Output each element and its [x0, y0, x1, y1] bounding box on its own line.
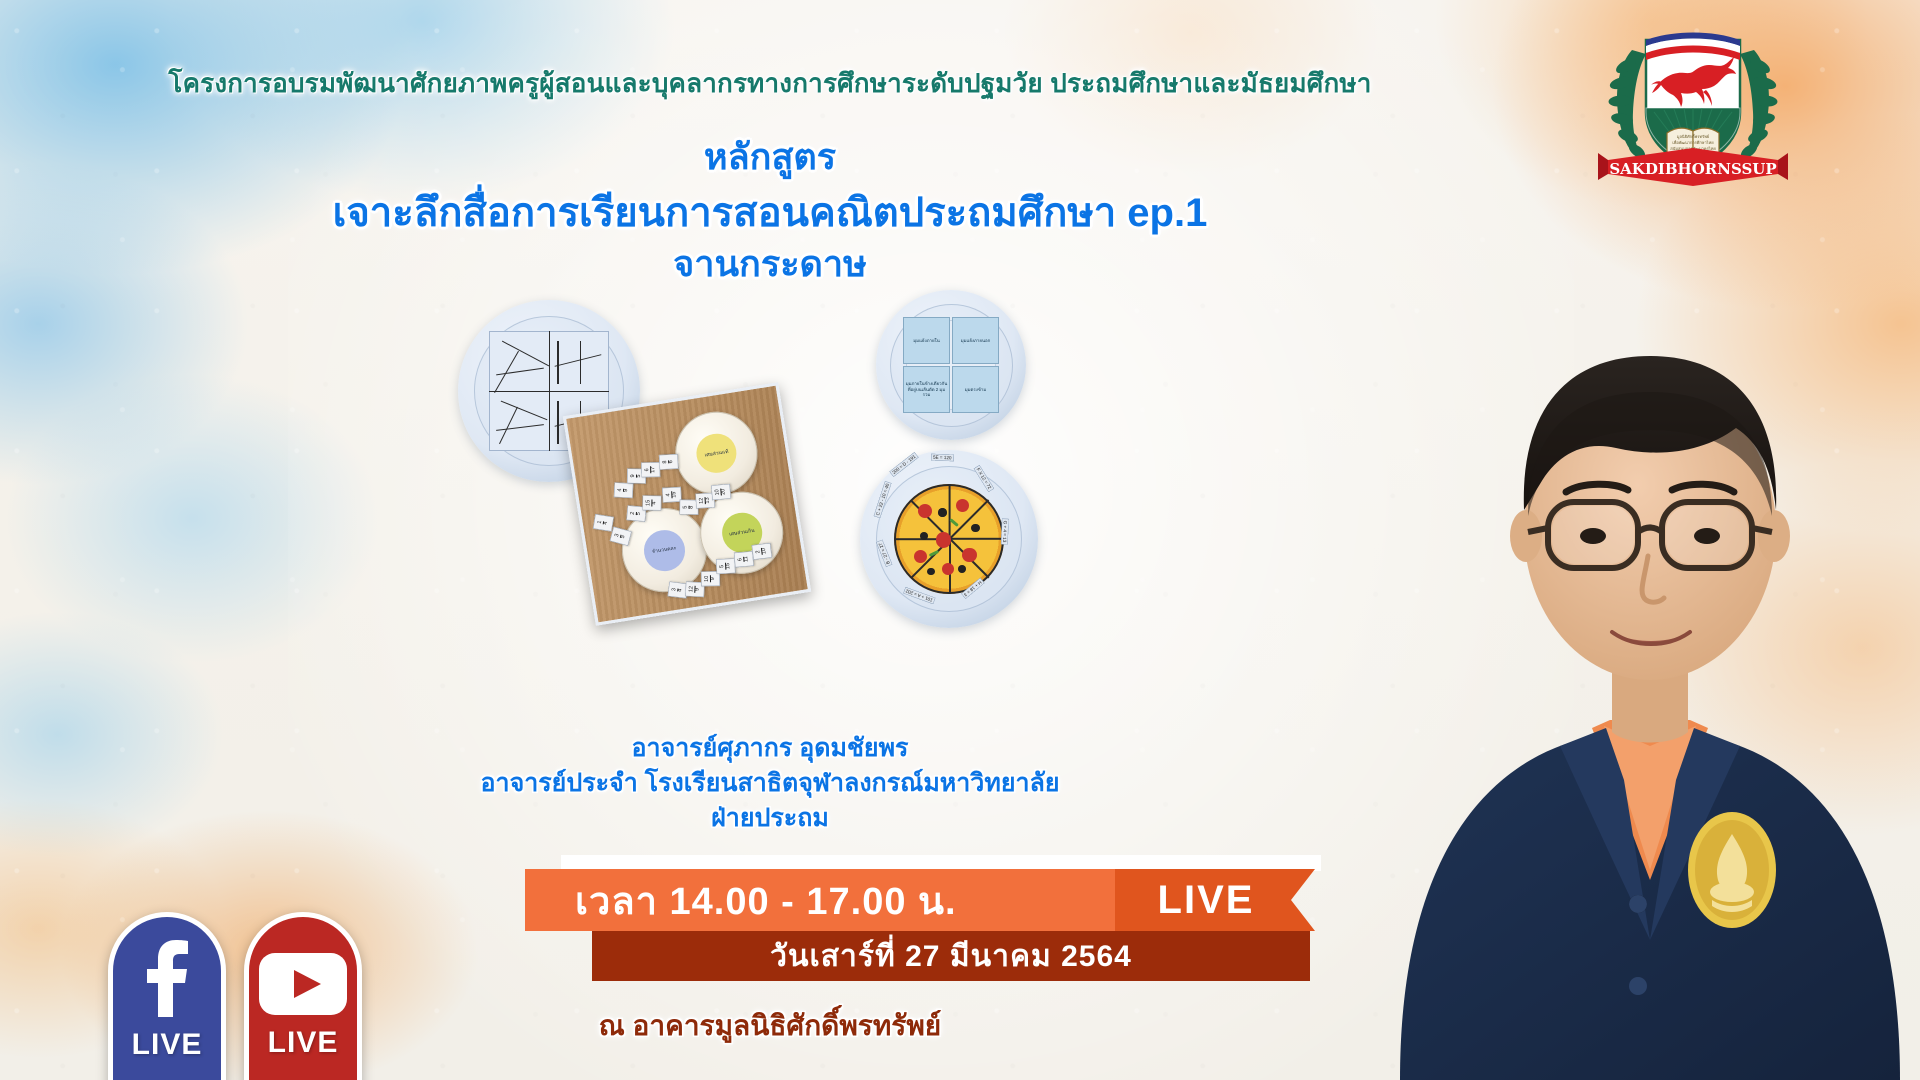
angle-label: มุมแย้งภายนอก — [952, 317, 999, 364]
fraction-chip: 154 — [642, 495, 661, 510]
crest-ribbon-text: SAKDIBHORNSSUP — [1609, 160, 1776, 178]
event-time-text: เวลา 14.00 - 17.00 น. — [575, 870, 957, 931]
teaching-materials-photo-collage: มุมแย้งภายใน มุมแย้งภายนอก มุมภายในข้างเ… — [440, 290, 1100, 610]
speaker-affiliation: อาจารย์ประจำ โรงเรียนสาธิตจุฬาลงกรณ์มหาว… — [481, 769, 1060, 797]
speaker-department: ฝ่ายประถม — [711, 804, 829, 832]
page-title: เจาะลึกสื่อการเรียนการสอนคณิตประถมศึกษา … — [333, 191, 1208, 235]
school-crest-logo: มูลนิธิศักดิ์พรทรัพย์ เพื่อพัฒนาการศึกษา… — [1588, 8, 1798, 186]
pizza-equation-label: G + 4 = 13 — [1001, 519, 1009, 545]
pizza-illustration — [894, 484, 1004, 594]
dish-label: เศษส่วนแท้ — [694, 431, 739, 476]
title-keyword: หลักสูตร — [704, 136, 836, 177]
fraction-sorting-board-photo: เศษส่วนแท้ จำนวนคละ เศษส่วนเกิน 14 35 49… — [563, 382, 811, 625]
speaker-affiliation-row: อาจารย์ประจำ โรงเรียนสาธิตจุฬาลงกรณ์มหาว… — [0, 763, 1540, 803]
fraction-chip: 14 — [593, 514, 614, 532]
facebook-live-label: LIVE — [132, 1028, 203, 1062]
title-sub-row: จานกระดาษ — [0, 235, 1540, 292]
fraction-chip: 1020 — [710, 483, 730, 500]
fraction-chip: 617 — [641, 462, 660, 477]
facebook-icon — [143, 939, 191, 1022]
angle-label-grid: มุมแย้งภายใน มุมแย้งภายนอก มุมภายในข้างเ… — [903, 317, 999, 413]
youtube-live-badge[interactable]: LIVE — [244, 912, 362, 1080]
svg-text:มูลนิธิศักดิ์พรทรัพย์: มูลนิธิศักดิ์พรทรัพย์ — [1677, 133, 1709, 140]
facebook-live-badge[interactable]: LIVE — [108, 912, 226, 1080]
speaker-department-row: ฝ่ายประถม — [0, 798, 1540, 838]
paper-plate-pizza-equation-photo: 5E = 120 F X 12 = 72 G + 4 = 13 H + 18 =… — [860, 450, 1038, 628]
pizza-equation-label: 5E = 120 — [931, 453, 954, 461]
fraction-chip: 86 — [659, 454, 679, 470]
speaker-name: อาจารย์ศุภากร อุดมชัยพร — [632, 734, 909, 762]
live-badge-label: LIVE — [1158, 878, 1255, 923]
fraction-chip: 210 — [752, 543, 773, 560]
event-date-banner: วันเสาร์ที่ 27 มีนาคม 2564 — [592, 931, 1310, 981]
angle-label: มุมตรงข้าม — [952, 366, 999, 413]
angle-label: มุมภายในข้างเดียวกัน ที่อยู่บนเส้นตัด 2 … — [903, 366, 950, 413]
angle-label: มุมแย้งภายใน — [903, 317, 950, 364]
paper-plate-angle-vocabulary-photo: มุมแย้งภายใน มุมแย้งภายนอก มุมภายในข้างเ… — [876, 290, 1026, 440]
fraction-chip: 515 — [716, 558, 736, 574]
fraction-chip: 611 — [734, 550, 754, 567]
svg-text:เพื่อพัฒนาการศึกษาไทย: เพื่อพัฒนาการศึกษาไทย — [1672, 140, 1713, 145]
speaker-name-row: อาจารย์ศุภากร อุดมชัยพร — [0, 728, 1540, 768]
title-keyword-row: หลักสูตร — [0, 128, 1540, 185]
fraction-chip: 35 — [609, 527, 631, 546]
presenter-photo — [1360, 180, 1920, 1080]
youtube-icon — [259, 953, 347, 1020]
program-header-line: โครงการอบรมพัฒนาศักยภาพครูผู้สอนและบุคลา… — [0, 63, 1540, 104]
social-live-badges: LIVE LIVE — [108, 912, 362, 1080]
youtube-live-label: LIVE — [268, 1026, 339, 1060]
fraction-chip: 49 — [614, 482, 634, 498]
live-badge-ribbon: LIVE — [1115, 869, 1315, 931]
dish-label: จำนวนคละ — [641, 527, 688, 573]
title-subtitle: จานกระดาษ — [673, 243, 867, 284]
event-date-text: วันเสาร์ที่ 27 มีนาคม 2564 — [770, 933, 1132, 980]
